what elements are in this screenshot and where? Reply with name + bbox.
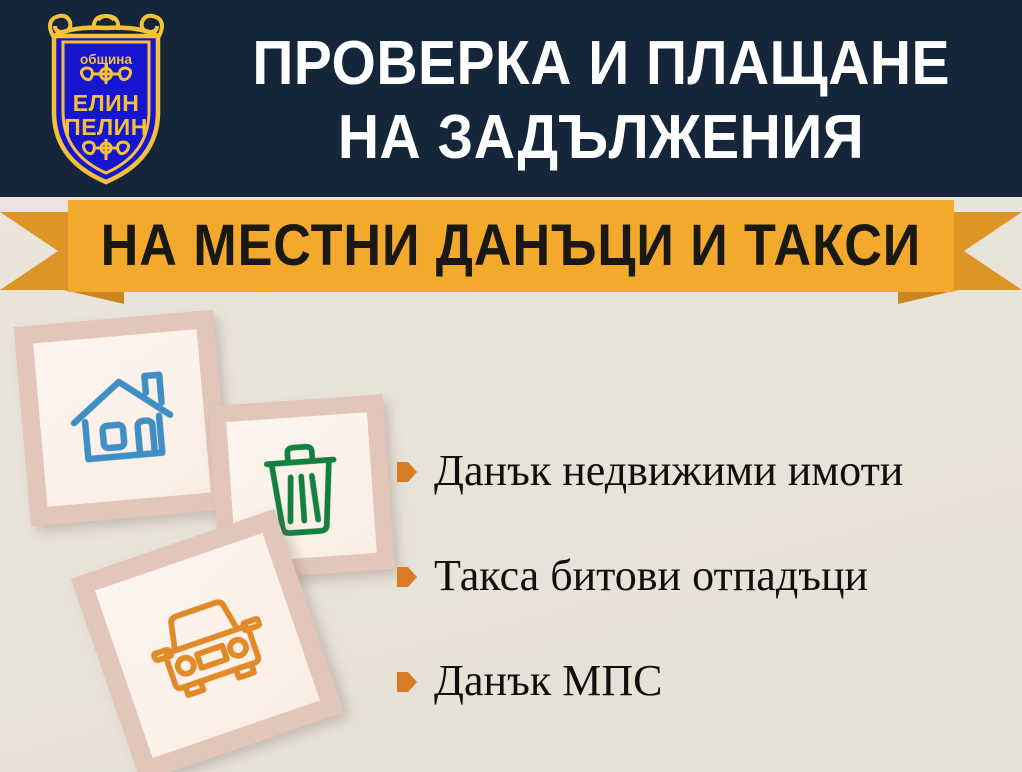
arrow-pentagon-bullet-icon: [396, 564, 418, 590]
arrow-pentagon-bullet-icon: [396, 669, 418, 695]
stamp-frame: [14, 310, 231, 527]
arrow-pentagon-bullet-icon: [396, 459, 418, 485]
coat-of-arms-icon: община ЕЛИН ПЕЛИН: [32, 8, 180, 186]
logo-name-line2: ПЕЛИН: [64, 114, 148, 140]
ribbon-label: НА МЕСТНИ ДАНЪЦИ И ТАКСИ: [101, 217, 922, 275]
title-line-2: НА ЗАДЪЛЖЕНИЯ: [338, 101, 864, 175]
stamp-paper: [33, 329, 211, 507]
list-item-label: Данък недвижими имоти: [434, 446, 903, 496]
list-item[interactable]: Данък МПС: [396, 628, 1006, 733]
ribbon-center: НА МЕСТНИ ДАНЪЦИ И ТАКСИ: [68, 200, 954, 292]
car-icon: [137, 580, 279, 710]
tax-types-list: Данък недвижими имоти Такса битови отпад…: [396, 418, 1006, 733]
list-item[interactable]: Такса битови отпадъци: [396, 523, 1006, 628]
poster-canvas: община ЕЛИН ПЕЛИН ПРОВЕРКА И П: [0, 0, 1022, 772]
ribbon-fold-right: [898, 290, 958, 304]
stamp-card-house: [14, 310, 231, 527]
list-item-label: Данък МПС: [434, 656, 662, 706]
stamp-paper: [95, 533, 320, 758]
logo-name-line1: ЕЛИН: [73, 90, 140, 116]
municipality-logo: община ЕЛИН ПЕЛИН: [32, 8, 180, 186]
page-title: ПРОВЕРКА И ПЛАЩАНЕ НА ЗАДЪЛЖЕНИЯ: [196, 16, 1006, 186]
list-item-label: Такса битови отпадъци: [434, 551, 868, 601]
subtitle-ribbon: НА МЕСТНИ ДАНЪЦИ И ТАКСИ: [0, 200, 1022, 300]
list-item[interactable]: Данък недвижими имоти: [396, 418, 1006, 523]
ribbon-fold-left: [64, 290, 124, 304]
title-line-1: ПРОВЕРКА И ПЛАЩАНЕ: [252, 27, 950, 101]
house-icon: [62, 362, 182, 473]
